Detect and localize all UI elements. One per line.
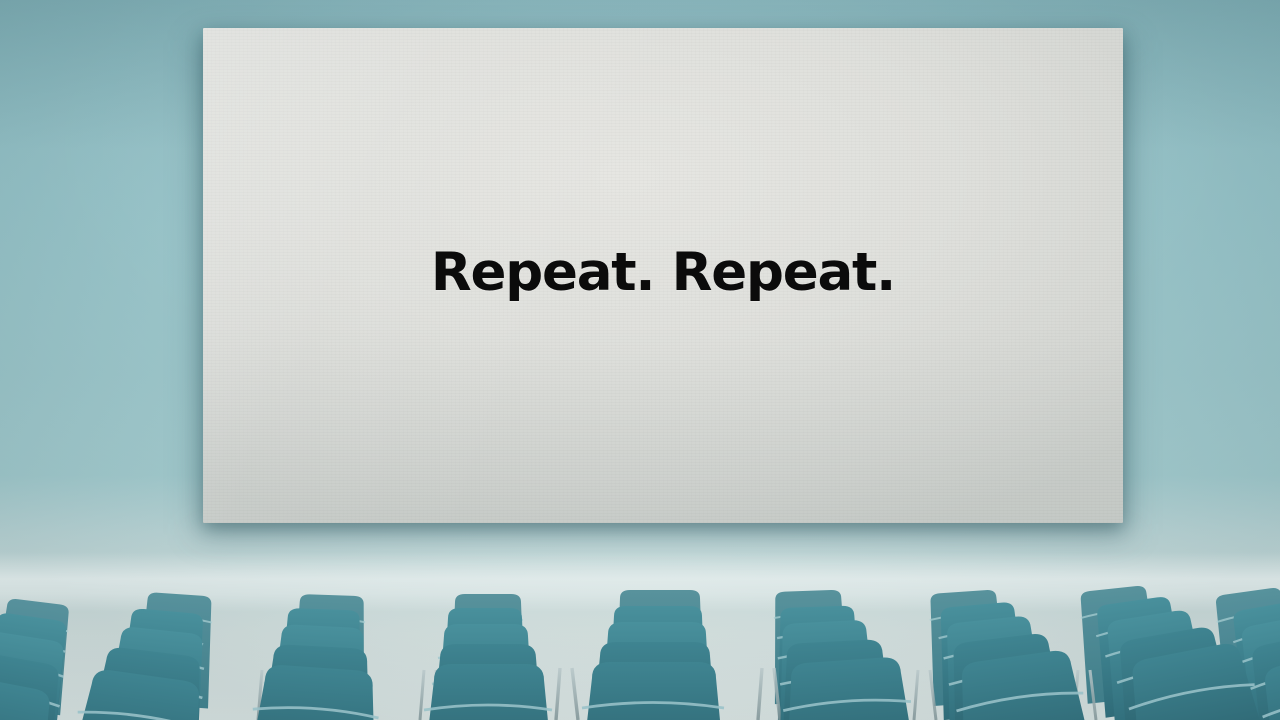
projection-screen-surface: Repeat. Repeat.: [203, 28, 1123, 523]
screen-inner-bezel: Repeat. Repeat.: [203, 28, 1123, 523]
auditorium-scene: Repeat. Repeat.: [0, 0, 1280, 720]
projection-screen-frame: Repeat. Repeat.: [203, 28, 1123, 523]
slide-headline-text: Repeat. Repeat.: [431, 246, 895, 299]
